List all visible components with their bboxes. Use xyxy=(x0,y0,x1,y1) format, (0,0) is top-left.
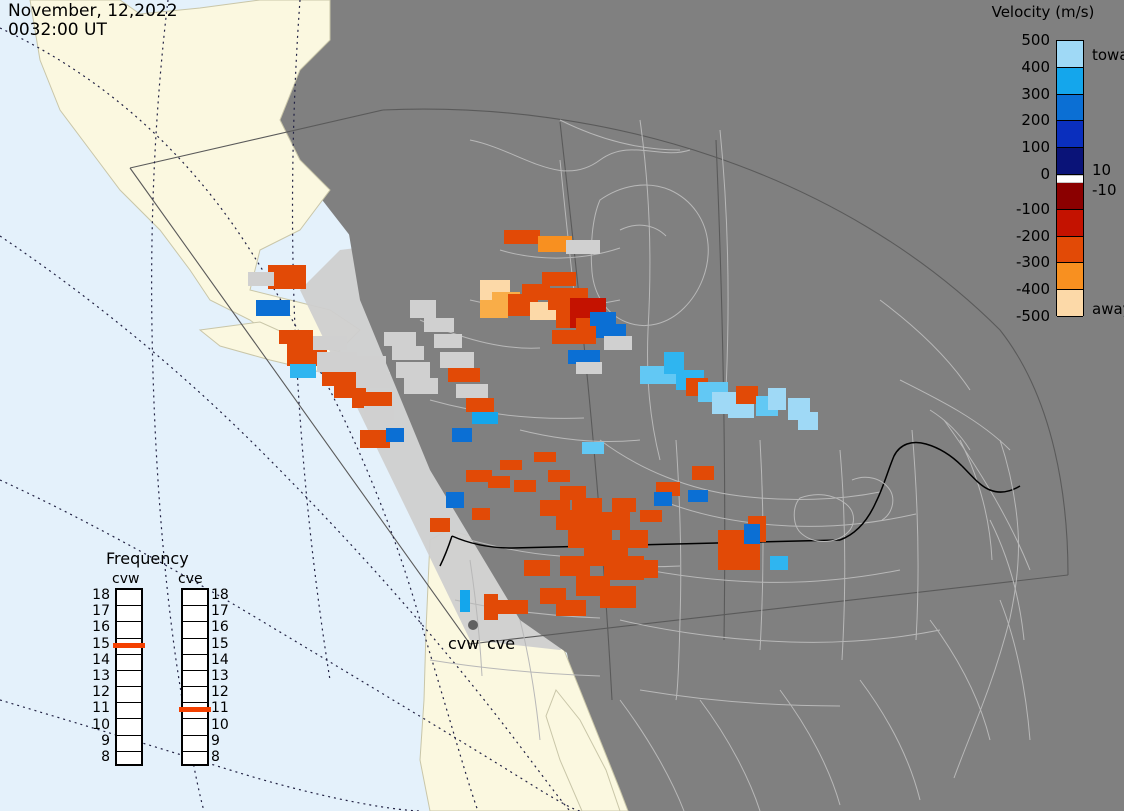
frequency-label-cve-17: 17 xyxy=(211,603,235,619)
frequency-cell-cve-14 xyxy=(183,655,207,671)
map-svg xyxy=(0,0,1124,811)
radar-site-marker xyxy=(468,620,478,630)
velocity-cell xyxy=(620,530,648,548)
frequency-cell-cvw-17 xyxy=(117,606,141,622)
frequency-label-cvw-9: 9 xyxy=(86,733,110,749)
velocity-cell xyxy=(534,452,556,462)
frequency-label-cve-14: 14 xyxy=(211,652,235,668)
frequency-label-cvw-12: 12 xyxy=(86,684,110,700)
velocity-cell xyxy=(392,346,424,360)
frequency-cell-cve-10 xyxy=(183,719,207,735)
velocity-cell xyxy=(484,594,498,620)
velocity-cell xyxy=(386,428,404,442)
velocity-tick--300: -300 xyxy=(994,253,1050,271)
velocity-cell xyxy=(576,362,602,374)
frequency-label-cvw-10: 10 xyxy=(86,717,110,733)
velocity-cell xyxy=(560,486,586,500)
velocity-cell xyxy=(256,300,290,316)
frequency-label-cve-15: 15 xyxy=(211,636,235,652)
frequency-cell-cvw-12 xyxy=(117,687,141,703)
velocity-cell xyxy=(352,392,392,408)
velocity-neg10-label: -10 xyxy=(1092,181,1117,199)
velocity-cell xyxy=(364,406,394,420)
velocity-cell xyxy=(542,272,576,286)
velocity-swatch-6 xyxy=(1057,183,1083,210)
velocity-cell xyxy=(688,490,708,502)
frequency-cell-cvw-14 xyxy=(117,655,141,671)
frequency-bar-cve xyxy=(181,588,209,766)
velocity-cell xyxy=(498,600,528,614)
velocity-tick-100: 100 xyxy=(994,138,1050,156)
velocity-tick--100: -100 xyxy=(994,200,1050,218)
velocity-cell xyxy=(582,442,604,454)
velocity-cell xyxy=(744,524,760,544)
frequency-marker-cve xyxy=(179,707,211,712)
velocity-cell xyxy=(460,590,470,612)
velocity-cell xyxy=(424,318,454,332)
velocity-cell xyxy=(434,334,462,348)
velocity-tick-400: 400 xyxy=(994,58,1050,76)
velocity-cell xyxy=(596,512,630,530)
velocity-cell xyxy=(654,492,672,506)
velocity-cell xyxy=(500,460,522,470)
velocity-cell xyxy=(692,466,714,480)
frequency-label-cve-13: 13 xyxy=(211,668,235,684)
velocity-away-label: away xyxy=(1092,300,1124,318)
velocity-cell xyxy=(488,476,510,488)
velocity-tick--400: -400 xyxy=(994,280,1050,298)
velocity-cell xyxy=(322,372,358,386)
frequency-cell-cvw-9 xyxy=(117,736,141,752)
velocity-tick-300: 300 xyxy=(994,85,1050,103)
frequency-label-cvw-15: 15 xyxy=(86,636,110,652)
frequency-cell-cve-15 xyxy=(183,639,207,655)
velocity-swatch-4 xyxy=(1057,148,1083,175)
site-label-cvw: cvw xyxy=(448,634,479,653)
frequency-label-cvw-18: 18 xyxy=(86,587,110,603)
velocity-cell xyxy=(798,412,818,430)
velocity-cell xyxy=(384,332,416,346)
frequency-label-cve-16: 16 xyxy=(211,619,235,635)
velocity-swatch-0 xyxy=(1057,41,1083,68)
radar-map-canvas: November, 12,20220032:00 UT Velocity (m/… xyxy=(0,0,1124,811)
velocity-cell xyxy=(313,336,347,350)
frequency-label-cvw-14: 14 xyxy=(86,652,110,668)
frequency-cell-cve-12 xyxy=(183,687,207,703)
velocity-tick-200: 200 xyxy=(994,111,1050,129)
velocity-tick-500: 500 xyxy=(994,31,1050,49)
velocity-cell xyxy=(590,312,616,326)
velocity-cell xyxy=(640,510,662,522)
frequency-cell-cve-16 xyxy=(183,622,207,638)
timestamp-time: 0032:00 UT xyxy=(8,20,107,40)
velocity-cell xyxy=(360,430,390,448)
frequency-legend-title: Frequency xyxy=(106,549,189,568)
velocity-tick--500: -500 xyxy=(994,307,1050,325)
frequency-bar-cvw xyxy=(115,588,143,766)
velocity-cell xyxy=(560,556,590,576)
frequency-cell-cvw-10 xyxy=(117,719,141,735)
velocity-cell xyxy=(279,330,313,344)
frequency-label-cve-11: 11 xyxy=(211,700,235,716)
velocity-swatch-3 xyxy=(1057,121,1083,148)
velocity-tick-0: 0 xyxy=(994,165,1050,183)
frequency-cell-cvw-8 xyxy=(117,752,141,768)
velocity-cell xyxy=(448,368,480,382)
frequency-label-cvw-11: 11 xyxy=(86,700,110,716)
velocity-cell xyxy=(524,560,550,576)
velocity-cell xyxy=(572,498,602,514)
velocity-cell xyxy=(356,372,390,388)
velocity-cell xyxy=(600,586,636,608)
velocity-cell xyxy=(396,362,430,378)
velocity-cell xyxy=(736,386,758,404)
velocity-swatch-2 xyxy=(1057,95,1083,122)
frequency-cell-cve-8 xyxy=(183,752,207,768)
frequency-marker-cvw xyxy=(113,643,145,648)
velocity-cell xyxy=(768,388,786,410)
velocity-cell xyxy=(410,300,436,318)
velocity-cell xyxy=(596,324,626,338)
frequency-label-cvw-16: 16 xyxy=(86,619,110,635)
velocity-cell xyxy=(548,470,570,482)
velocity-cell xyxy=(568,350,600,364)
velocity-cell xyxy=(446,492,464,508)
frequency-cell-cve-9 xyxy=(183,736,207,752)
velocity-cell xyxy=(604,336,632,350)
velocity-swatch-10 xyxy=(1057,290,1083,317)
frequency-label-cvw-13: 13 xyxy=(86,668,110,684)
frequency-label-cve-12: 12 xyxy=(211,684,235,700)
frequency-cell-cve-13 xyxy=(183,671,207,687)
velocity-swatch-9 xyxy=(1057,263,1083,290)
timestamp: November, 12,20220032:00 UT xyxy=(8,2,178,40)
velocity-cell xyxy=(770,556,788,570)
velocity-cell xyxy=(514,480,536,492)
frequency-cell-cvw-11 xyxy=(117,703,141,719)
site-label-cve: cve xyxy=(487,634,515,653)
velocity-cell xyxy=(556,600,586,616)
frequency-label-cvw-8: 8 xyxy=(86,749,110,765)
frequency-label-cve-10: 10 xyxy=(211,717,235,733)
velocity-cell xyxy=(404,378,438,394)
velocity-cell xyxy=(472,412,498,424)
frequency-label-cve-9: 9 xyxy=(211,733,235,749)
velocity-legend-title: Velocity (m/s) xyxy=(968,3,1118,21)
velocity-cell xyxy=(440,352,474,368)
velocity-cell xyxy=(466,398,494,412)
velocity-cell xyxy=(504,230,540,244)
velocity-pos10-label: 10 xyxy=(1092,161,1111,179)
frequency-cell-cvw-18 xyxy=(117,590,141,606)
velocity-cell xyxy=(290,364,316,378)
velocity-swatch-8 xyxy=(1057,237,1083,264)
velocity-swatch-7 xyxy=(1057,210,1083,237)
timestamp-date: November, 12,2022 xyxy=(8,1,178,21)
frequency-cell-cve-17 xyxy=(183,606,207,622)
frequency-label-cve-8: 8 xyxy=(211,749,235,765)
velocity-colorbar xyxy=(1056,40,1084,316)
velocity-cell xyxy=(522,284,550,300)
frequency-cell-cvw-16 xyxy=(117,622,141,638)
velocity-cell xyxy=(452,428,472,442)
frequency-column-header-cve: cve xyxy=(178,571,203,587)
velocity-swatch-5 xyxy=(1057,175,1083,183)
velocity-cell xyxy=(628,560,658,578)
frequency-column-header-cvw: cvw xyxy=(112,571,139,587)
velocity-toward-label: toward xyxy=(1092,46,1124,64)
velocity-cell xyxy=(472,508,490,520)
frequency-label-cvw-17: 17 xyxy=(86,603,110,619)
velocity-cell xyxy=(248,272,274,286)
velocity-cell xyxy=(430,518,450,532)
frequency-cell-cvw-13 xyxy=(117,671,141,687)
frequency-label-cve-18: 18 xyxy=(211,587,235,603)
velocity-cell xyxy=(566,240,600,254)
frequency-cell-cve-18 xyxy=(183,590,207,606)
velocity-swatch-1 xyxy=(1057,68,1083,95)
velocity-cell xyxy=(612,498,636,512)
velocity-cell xyxy=(350,356,386,372)
velocity-cell xyxy=(456,384,488,398)
velocity-tick--200: -200 xyxy=(994,227,1050,245)
